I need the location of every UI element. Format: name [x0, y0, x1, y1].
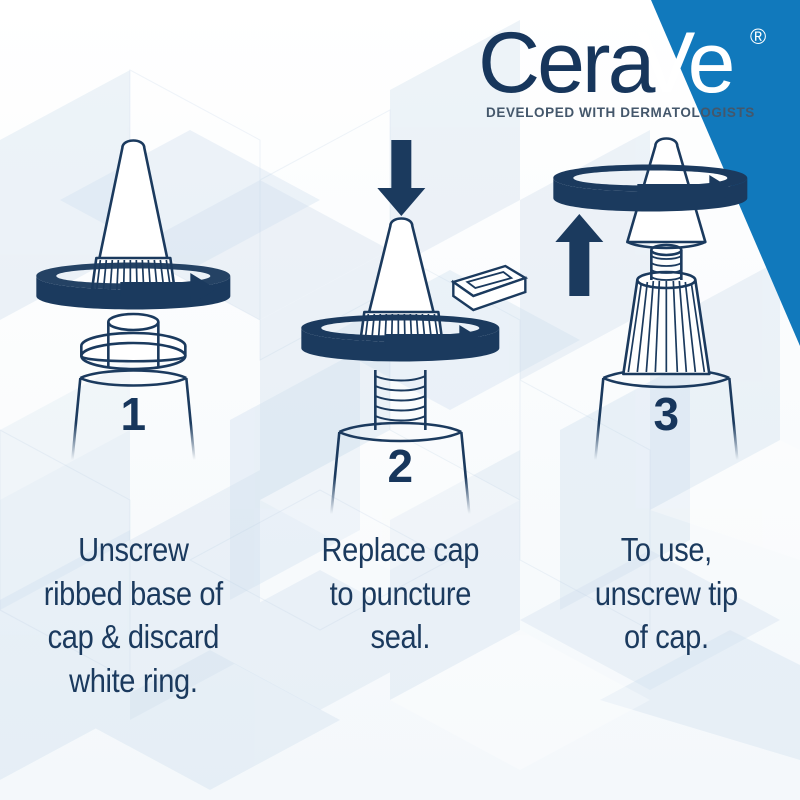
step-2-caption-column: Replace cap to puncture seal.	[267, 528, 534, 788]
step-number: 2	[387, 440, 413, 492]
down-arrow-icon	[377, 140, 425, 216]
illustration-row: 1	[0, 130, 800, 530]
unscrew-tip-illustration: 3	[533, 130, 800, 530]
cerave-logo: Cera Ve ® DEVELOPED WITH DERMATOLOGISTS	[478, 18, 778, 128]
registered-trademark-icon: ®	[750, 24, 766, 49]
step-1-caption-column: Unscrew ribbed base of cap & discard whi…	[0, 528, 267, 788]
discarded-ring	[453, 266, 525, 310]
replace-cap-illustration: 2	[267, 130, 534, 530]
logo-text-ve: Ve	[638, 18, 733, 111]
up-arrow-icon	[556, 214, 604, 296]
step-1-column: 1	[0, 130, 267, 530]
step-number: 1	[121, 388, 147, 440]
step-3-column: 3	[533, 130, 800, 530]
cerave-wordmark: Cera Ve ® DEVELOPED WITH DERMATOLOGISTS	[478, 18, 778, 128]
step-2-caption: Replace cap to puncture seal.	[291, 528, 508, 659]
step-1-caption: Unscrew ribbed base of cap & discard whi…	[25, 528, 242, 702]
logo-text-cera: Cera	[478, 18, 656, 111]
instruction-card: Cera Ve ® DEVELOPED WITH DERMATOLOGISTS	[0, 0, 800, 800]
step-number: 3	[654, 388, 680, 440]
caption-row: Unscrew ribbed base of cap & discard whi…	[0, 528, 800, 788]
unscrew-ribbed-base-illustration: 1	[0, 130, 267, 530]
step-3-caption-column: To use, unscrew tip of cap.	[533, 528, 800, 788]
step-2-column: 2	[267, 130, 534, 530]
logo-tagline: DEVELOPED WITH DERMATOLOGISTS	[486, 105, 755, 120]
threaded-neck	[375, 376, 425, 421]
step-3-caption: To use, unscrew tip of cap.	[558, 528, 775, 659]
